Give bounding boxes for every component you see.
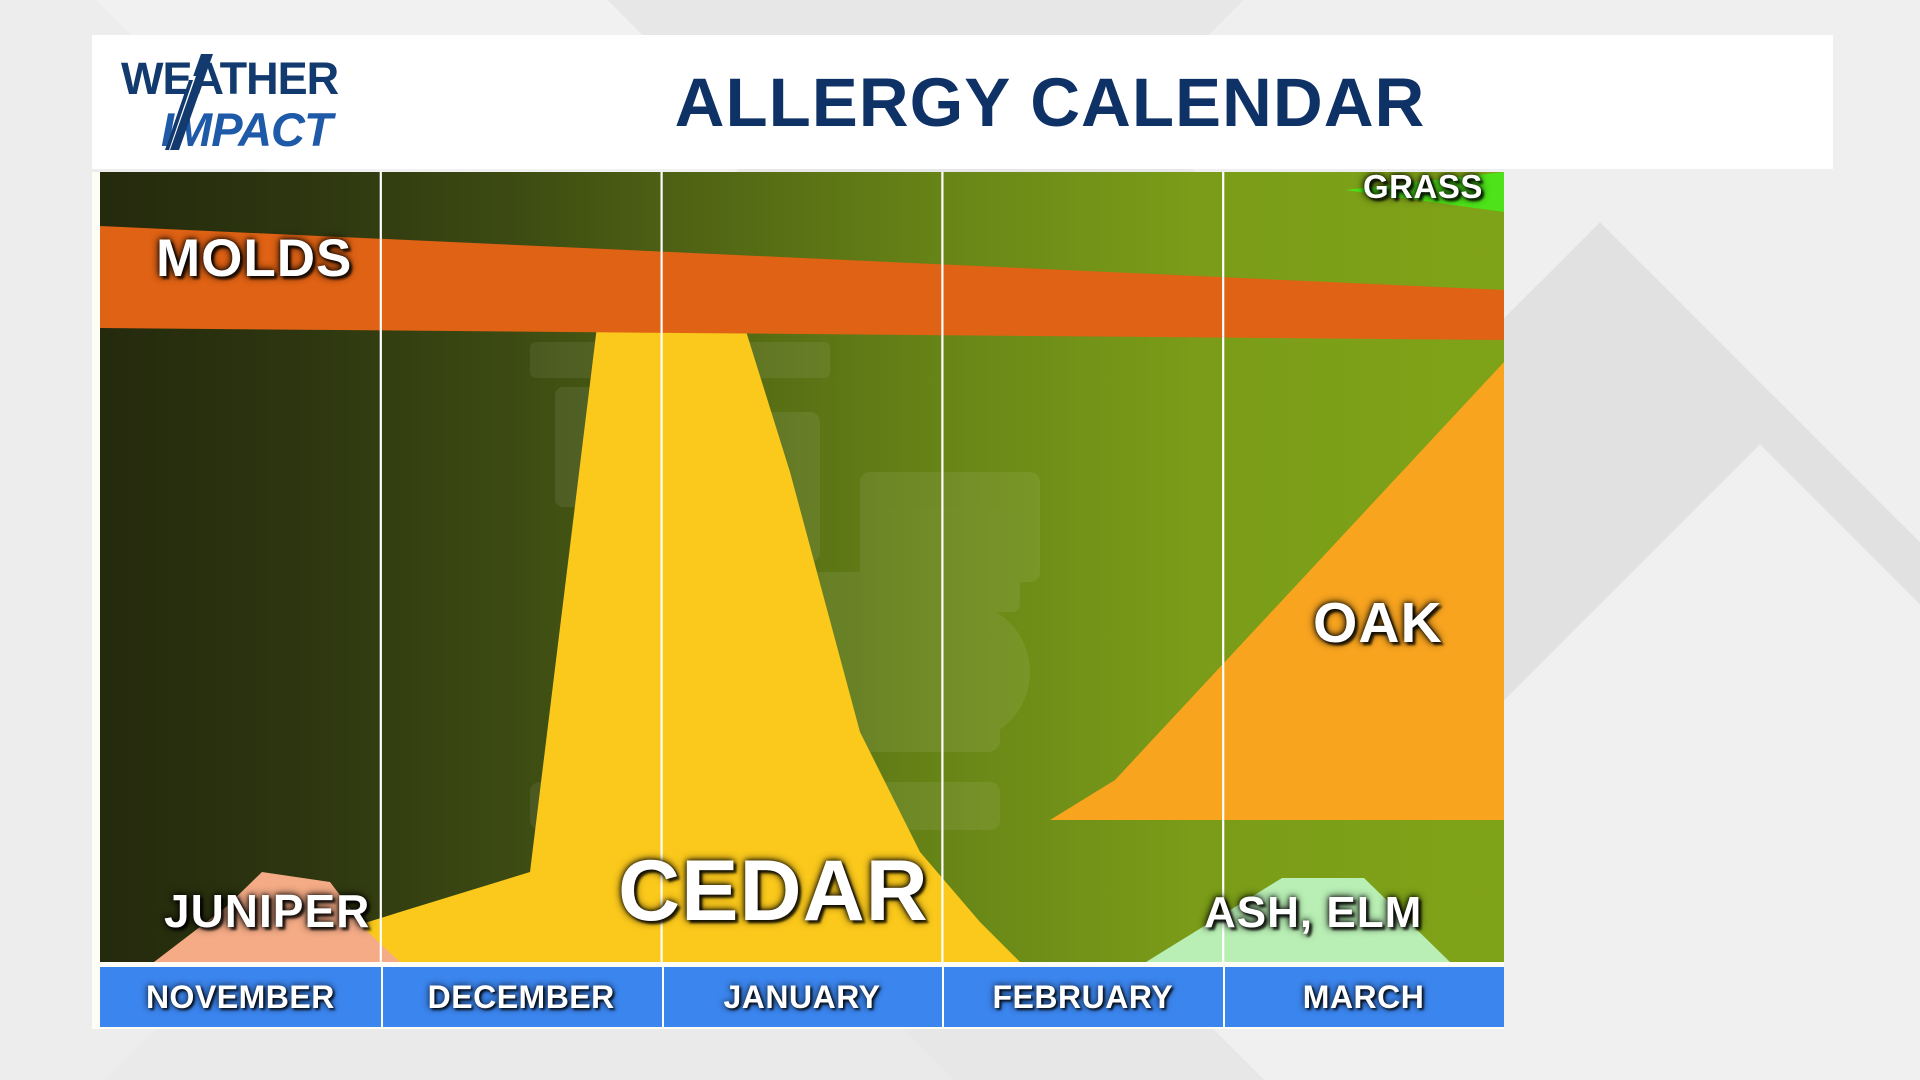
month-label-november: NOVEMBER [100,967,381,1027]
weather-impact-logo: WEATHER IMPACT [117,46,447,158]
month-label-january: JANUARY [662,967,943,1027]
chart-plot-area: MOLDS GRASS OAK CEDAR JUNIPER ASH, ELM [100,172,1504,962]
month-axis: NOVEMBER DECEMBER JANUARY FEBRUARY MARCH [100,967,1504,1027]
header-bar: WEATHER IMPACT ALLERGY CALENDAR [92,35,1833,169]
month-label-february: FEBRUARY [942,967,1223,1027]
series-area-grass [1345,172,1504,212]
month-label-march: MARCH [1223,967,1504,1027]
page-background: WEATHER IMPACT ALLERGY CALENDAR [0,0,1920,1080]
series-area-juniper [154,872,400,962]
series-area-ash-elm [1146,878,1450,962]
allergy-calendar-chart: MOLDS GRASS OAK CEDAR JUNIPER ASH, ELM N… [92,172,1504,1029]
page-title: ALLERGY CALENDAR [447,63,1653,142]
svg-text:WEATHER: WEATHER [121,53,339,104]
series-area-oak [1050,362,1504,820]
month-label-december: DECEMBER [381,967,662,1027]
series-area-molds [100,226,1504,340]
